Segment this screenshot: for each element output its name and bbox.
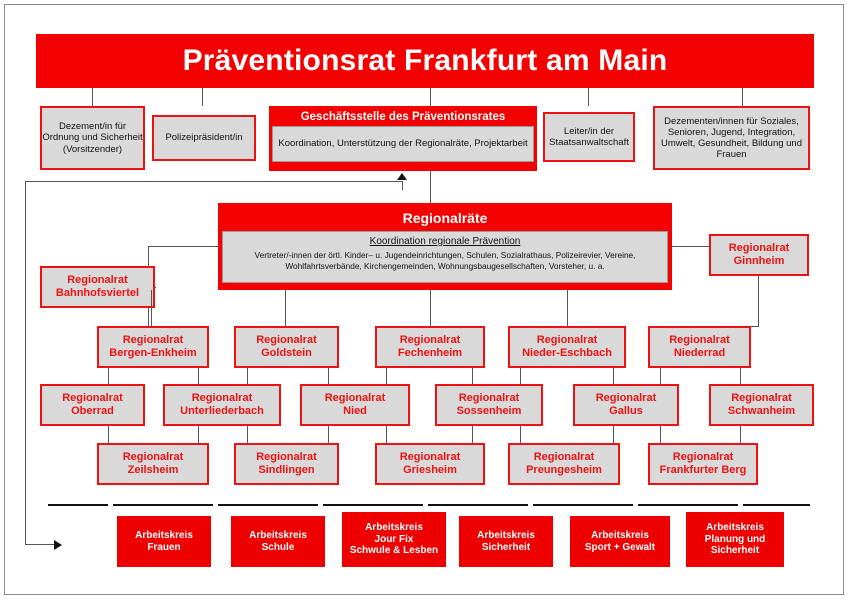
connector-fechenheim-to-nied <box>386 368 387 384</box>
node-arbeitskreis-sport-gewalt-label: ArbeitskreisSport + Gewalt <box>585 530 655 554</box>
org-chart-page: Präventionsrat Frankfurt am Main Dezemen… <box>0 0 850 601</box>
node-regionalrat-zeilsheim[interactable]: RegionalratZeilsheim <box>97 443 209 485</box>
node-regionalrat-nied[interactable]: RegionalratNied <box>300 384 410 426</box>
connector-unterliederbach-to-zeilsheim <box>198 426 199 443</box>
connector-trunk-up-stub <box>402 181 403 190</box>
node-arbeitskreis-jour-fix[interactable]: ArbeitskreisJour FixSchwule & Lesben <box>342 512 446 567</box>
node-regionalrat-nieder-eschbach-label: RegionalratNieder-Eschbach <box>522 334 612 360</box>
connector-niederrad-to-schwanheim <box>740 368 741 384</box>
connector-goldstein-to-unterliederbach <box>247 368 248 384</box>
connector-schwanheim-to-frankfurter-berg <box>740 426 741 443</box>
separator-segment-6 <box>533 504 633 506</box>
connector-bergen-to-unterliederbach <box>198 368 199 384</box>
connector-gallus-to-preungesheim <box>613 426 614 443</box>
separator-segment-4 <box>323 504 423 506</box>
node-regionalrat-oberrad[interactable]: RegionalratOberrad <box>40 384 145 426</box>
separator-segment-7 <box>638 504 738 506</box>
node-regionalrat-schwanheim[interactable]: RegionalratSchwanheim <box>709 384 814 426</box>
node-arbeitskreis-sicherheit[interactable]: ArbeitskreisSicherheit <box>459 516 553 567</box>
regionalraete-title: Regionalräte <box>222 207 668 231</box>
node-regionalrat-fechenheim[interactable]: RegionalratFechenheim <box>375 326 485 368</box>
node-arbeitskreis-sport-gewalt[interactable]: ArbeitskreisSport + Gewalt <box>570 516 670 567</box>
node-regionalrat-fechenheim-label: RegionalratFechenheim <box>398 334 462 360</box>
geschaeftsstelle-body: Koordination, Unterstützung der Regional… <box>272 126 534 162</box>
connector-fechenheim-to-sossenheim <box>472 368 473 384</box>
separator-segment-2 <box>113 504 213 506</box>
separator-segment-8 <box>743 504 810 506</box>
page-title-text: Präventionsrat Frankfurt am Main <box>183 44 668 78</box>
node-regionalrat-ginnheim[interactable]: RegionalratGinnheim <box>709 234 809 276</box>
box-dezernenten-soziales-label: Dezementen/innen für Soziales, Senioren,… <box>655 116 808 161</box>
node-regionalrat-sossenheim-label: RegionalratSossenheim <box>457 392 522 418</box>
node-regionalrat-zeilsheim-label: RegionalratZeilsheim <box>123 451 184 477</box>
node-regionalrat-frankfurter-berg-label: RegionalratFrankfurter Berg <box>660 451 747 477</box>
node-regionalrat-bergen-enkheim[interactable]: RegionalratBergen-Enkheim <box>97 326 209 368</box>
node-regionalrat-gallus[interactable]: RegionalratGallus <box>573 384 679 426</box>
regionalraete-body: Koordination regionale Prävention Vertre… <box>222 231 668 283</box>
connector-goldstein-to-nied <box>328 368 329 384</box>
connector-down-col2 <box>285 290 286 326</box>
node-regionalrat-bahnhofsviertel[interactable]: RegionalratBahnhofsviertel <box>40 266 155 308</box>
connector-nied-to-griesheim <box>386 426 387 443</box>
connector-left-trunk-horizontal <box>25 181 403 182</box>
node-arbeitskreis-sicherheit-label: ArbeitskreisSicherheit <box>477 530 535 554</box>
box-geschaeftsstelle[interactable]: Geschäftsstelle des Präventionsrates Koo… <box>269 106 537 171</box>
node-arbeitskreis-planung-sicherheit-label: ArbeitskreisPlanung undSicherheit <box>705 522 766 557</box>
connector-left-spine-foot <box>25 544 55 545</box>
connector-banner-to-polizei <box>202 88 203 106</box>
node-arbeitskreis-frauen[interactable]: ArbeitskreisFrauen <box>117 516 211 567</box>
connector-nied-to-sindlingen <box>328 426 329 443</box>
node-regionalrat-sossenheim[interactable]: RegionalratSossenheim <box>435 384 543 426</box>
regionalraete-description: Vertreter/-innen der örtl. Kinder– u. Ju… <box>255 250 636 271</box>
box-polizeipraesident-label: Polizeipräsident/in <box>165 132 242 143</box>
separator-segment-1 <box>48 504 108 506</box>
box-polizeipraesident[interactable]: Polizeipräsident/in <box>152 115 256 161</box>
connector-unterliederbach-to-sindlingen <box>247 426 248 443</box>
box-dezernent-ordnung-label: Dezement/in für Ordnung und Sicherheit (… <box>42 121 143 155</box>
node-regionalrat-gallus-label: RegionalratGallus <box>596 392 657 418</box>
box-dezernenten-soziales[interactable]: Dezementen/innen für Soziales, Senioren,… <box>653 106 810 170</box>
connector-niederrad-to-gallus <box>660 368 661 384</box>
node-regionalrat-frankfurter-berg[interactable]: RegionalratFrankfurter Berg <box>648 443 758 485</box>
node-regionalrat-unterliederbach[interactable]: RegionalratUnterliederbach <box>163 384 281 426</box>
node-regionalrat-oberrad-label: RegionalratOberrad <box>62 392 123 418</box>
node-regionalrat-niederrad[interactable]: RegionalratNiederrad <box>648 326 751 368</box>
node-regionalrat-griesheim-label: RegionalratGriesheim <box>400 451 461 477</box>
connector-sossenheim-to-griesheim <box>472 426 473 443</box>
node-regionalrat-preungesheim[interactable]: RegionalratPreungesheim <box>508 443 620 485</box>
node-arbeitskreis-schule-label: ArbeitskreisSchule <box>249 530 307 554</box>
connector-rr-right-out <box>672 246 710 247</box>
connector-sossenheim-to-preungesheim <box>520 426 521 443</box>
node-regionalrat-goldstein-label: RegionalratGoldstein <box>256 334 317 360</box>
node-arbeitskreis-planung-sicherheit[interactable]: ArbeitskreisPlanung undSicherheit <box>686 512 784 567</box>
connector-banner-to-dezernenten <box>742 88 743 106</box>
box-dezernent-ordnung[interactable]: Dezement/in für Ordnung und Sicherheit (… <box>40 106 145 170</box>
node-arbeitskreis-schule[interactable]: ArbeitskreisSchule <box>231 516 325 567</box>
box-leiter-staatsanwaltschaft-label: Leiter/in der Staatsanwaltschaft <box>545 126 633 148</box>
connector-left-spine <box>25 181 26 545</box>
separator-segment-5 <box>428 504 528 506</box>
node-arbeitskreis-jour-fix-label: ArbeitskreisJour FixSchwule & Lesben <box>350 522 438 557</box>
connector-nieder-eschbach-to-gallus <box>613 368 614 384</box>
connector-ginnheim-to-niederrad <box>758 276 759 326</box>
node-regionalrat-schwanheim-label: RegionalratSchwanheim <box>728 392 795 418</box>
box-leiter-staatsanwaltschaft[interactable]: Leiter/in der Staatsanwaltschaft <box>543 112 635 162</box>
connector-gallus-to-frankfurter-berg <box>660 426 661 443</box>
connector-banner-to-staatsanwaltschaft <box>588 88 589 106</box>
connector-banner-to-dezernent <box>92 88 93 106</box>
node-regionalrat-goldstein[interactable]: RegionalratGoldstein <box>234 326 339 368</box>
node-regionalrat-niederrad-label: RegionalratNiederrad <box>669 334 730 360</box>
page-title: Präventionsrat Frankfurt am Main <box>36 34 814 88</box>
node-regionalrat-nied-label: RegionalratNied <box>325 392 386 418</box>
node-regionalrat-griesheim[interactable]: RegionalratGriesheim <box>375 443 485 485</box>
geschaeftsstelle-title: Geschäftsstelle des Präventionsrates <box>272 109 534 126</box>
box-regionalraete[interactable]: Regionalräte Koordination regionale Präv… <box>218 203 672 290</box>
node-regionalrat-ginnheim-label: RegionalratGinnheim <box>729 242 790 268</box>
connector-bergen-to-oberrad <box>108 368 109 384</box>
node-regionalrat-preungesheim-label: RegionalratPreungesheim <box>526 451 602 477</box>
regionalraete-subtitle: Koordination regionale Prävention <box>228 235 662 249</box>
arrow-right-to-arbeitskreise <box>54 540 62 550</box>
connector-down-col1 <box>151 290 152 326</box>
node-regionalrat-unterliederbach-label: RegionalratUnterliederbach <box>180 392 264 418</box>
node-regionalrat-sindlingen[interactable]: RegionalratSindlingen <box>234 443 339 485</box>
arrow-up-to-geschaeftsstelle <box>397 173 407 180</box>
connector-down-col3 <box>430 290 431 326</box>
node-regionalrat-nieder-eschbach[interactable]: RegionalratNieder-Eschbach <box>508 326 626 368</box>
node-arbeitskreis-frauen-label: ArbeitskreisFrauen <box>135 530 193 554</box>
connector-oberrad-to-zeilsheim <box>108 426 109 443</box>
connector-rr-left-out <box>148 246 218 247</box>
node-regionalrat-sindlingen-label: RegionalratSindlingen <box>256 451 317 477</box>
node-regionalrat-bahnhofsviertel-label: RegionalratBahnhofsviertel <box>56 274 139 300</box>
separator-segment-3 <box>218 504 318 506</box>
connector-nieder-eschbach-to-sossenheim <box>520 368 521 384</box>
node-regionalrat-bergen-enkheim-label: RegionalratBergen-Enkheim <box>109 334 196 360</box>
connector-down-col4 <box>567 290 568 326</box>
